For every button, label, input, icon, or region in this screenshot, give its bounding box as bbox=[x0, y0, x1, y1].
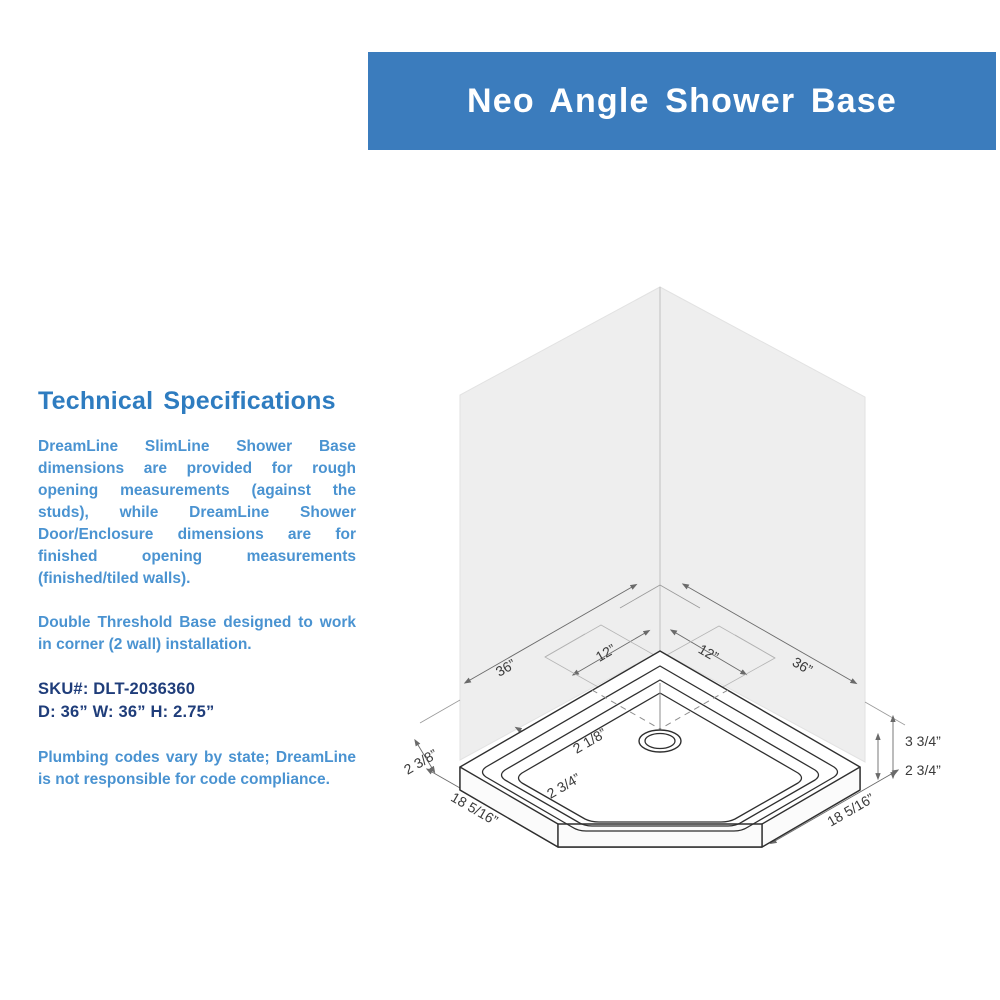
dim-label-right-1858: 18 5/16” bbox=[824, 790, 877, 830]
dimension-lines bbox=[418, 587, 893, 841]
spec-paragraph-dimensions: DreamLine SlimLine Shower Base dimension… bbox=[38, 436, 356, 590]
dim-label-right-36: 36” bbox=[790, 654, 816, 678]
wall-panel-right bbox=[660, 287, 865, 762]
spec-paragraph-disclaimer: Plumbing codes vary by state; DreamLine … bbox=[38, 747, 356, 791]
dim-line-left-12 bbox=[578, 633, 645, 672]
dim-label-334: 3 3/4” bbox=[905, 733, 941, 749]
drain-assembly bbox=[592, 683, 728, 752]
basin-inner-rim bbox=[502, 680, 819, 826]
page-title: Neo Angle Shower Base bbox=[467, 82, 897, 121]
dim-label-left-12: 12” bbox=[593, 641, 619, 665]
basin-floor-edge bbox=[519, 693, 802, 822]
basin-outlines bbox=[483, 666, 838, 831]
shower-base-body bbox=[460, 651, 860, 847]
dim-line-218 bbox=[520, 730, 600, 777]
wall-panels bbox=[460, 287, 865, 762]
dim-label-218: 2 1/8” bbox=[570, 725, 609, 757]
dim-line-234-inner bbox=[573, 773, 618, 800]
dim-label-left-36: 36” bbox=[493, 656, 519, 680]
dim-label-234-right: 2 3/4” bbox=[905, 762, 941, 778]
product-dimensions: D: 36” W: 36” H: 2.75” bbox=[38, 701, 356, 725]
dim-label-right-12: 12” bbox=[696, 641, 722, 665]
dim-line-right-1858 bbox=[775, 773, 893, 841]
dim-line-left-1858 bbox=[432, 772, 551, 840]
threshold-face-center bbox=[558, 824, 762, 847]
basin-outer-rim bbox=[483, 666, 838, 831]
drain-ring-outer bbox=[639, 730, 681, 752]
drain-guide-lines bbox=[592, 690, 728, 729]
wall-panel-left bbox=[460, 287, 660, 760]
threshold-face-right bbox=[762, 767, 860, 847]
dim-line-right-12 bbox=[676, 633, 742, 672]
dim-label-left-1858: 18 5/16” bbox=[448, 789, 501, 829]
dim-line-left-36 bbox=[470, 587, 632, 680]
dimension-labels: 36” 36” 12” 12” 2 3/8” 18 5/16” 18 5/16”… bbox=[401, 641, 941, 830]
dimension-witness-lines bbox=[420, 585, 905, 725]
technical-specifications-panel: Technical Specifications DreamLine SlimL… bbox=[38, 388, 356, 813]
twelve-inch-guide-boxes bbox=[545, 625, 775, 722]
threshold-face-left bbox=[460, 767, 558, 847]
dim-line-right-36 bbox=[688, 587, 852, 681]
dim-label-234-inner: 2 3/4” bbox=[544, 770, 583, 802]
spec-paragraph-threshold: Double Threshold Base designed to work i… bbox=[38, 612, 356, 656]
dim-label-238: 2 3/8” bbox=[401, 746, 440, 778]
header-banner: Neo Angle Shower Base bbox=[368, 52, 996, 150]
dim-line-238 bbox=[418, 745, 432, 768]
sku-block: SKU#: DLT-2036360 D: 36” W: 36” H: 2.75” bbox=[38, 678, 356, 726]
spec-heading: Technical Specifications bbox=[38, 388, 356, 416]
drain-ring-inner bbox=[645, 734, 675, 749]
sku-number: SKU#: DLT-2036360 bbox=[38, 678, 356, 702]
base-top-deck bbox=[460, 651, 860, 847]
